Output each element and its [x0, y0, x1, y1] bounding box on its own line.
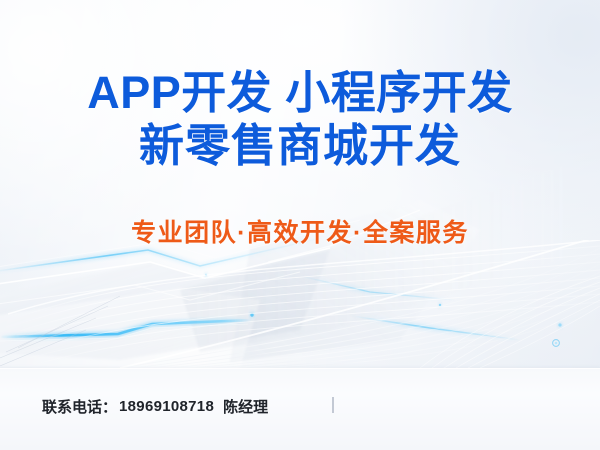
contact-person-name: 陈经理: [223, 396, 268, 417]
contact-label: 联系电话：: [42, 396, 117, 417]
headline-line-1: APP开发 小程序开发: [0, 66, 600, 119]
subtitle-text: 专业团队·高效开发·全案服务: [0, 213, 600, 249]
promo-banner: APP开发 小程序开发 新零售商城开发 专业团队·高效开发·全案服务 联系电话：…: [0, 0, 600, 450]
contact-divider: [332, 397, 334, 413]
headline-line-2: 新零售商城开发: [0, 119, 600, 172]
contact-info: 联系电话： 18969108718 陈经理: [42, 396, 268, 417]
headline-block: APP开发 小程序开发 新零售商城开发: [0, 66, 600, 172]
contact-phone-number: 18969108718: [119, 398, 214, 415]
